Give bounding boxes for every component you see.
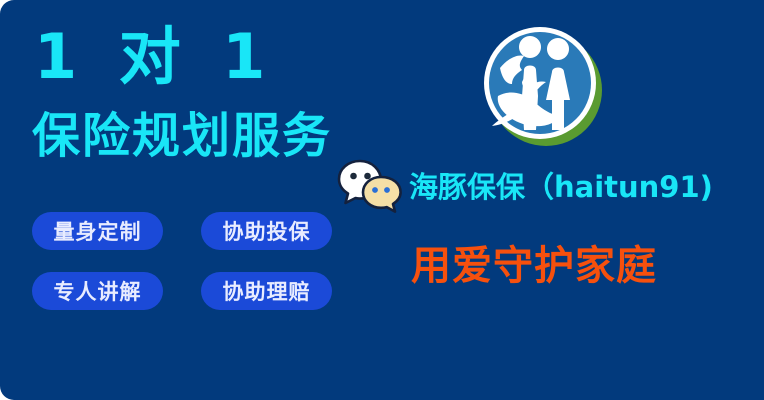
page-subtitle: 保险规划服务 (32, 112, 332, 160)
insurance-promo-poster: 1 对 1 保险规划服务 量身定制 协助投保 专人讲解 协助理赔 (0, 0, 764, 400)
page-title: 1 对 1 (34, 26, 275, 88)
wechat-handle-text: 海豚保保（haitun91) (409, 173, 713, 202)
feature-badge-grid: 量身定制 协助投保 专人讲解 协助理赔 (32, 212, 332, 310)
wechat-contact-row: 海豚保保（haitun91) (337, 158, 713, 216)
left-content-block: 1 对 1 保险规划服务 量身定制 协助投保 专人讲解 协助理赔 (0, 0, 380, 400)
brand-tagline: 用爱守护家庭 (411, 246, 657, 286)
feature-badge-assist-apply[interactable]: 协助投保 (201, 212, 332, 250)
wechat-icon (337, 158, 403, 216)
feature-badge-assist-claim[interactable]: 协助理赔 (201, 272, 332, 310)
feature-badge-expert-explain[interactable]: 专人讲解 (32, 272, 163, 310)
globe-dolphin-family-logo-icon (478, 22, 606, 150)
feature-badge-custom-plan[interactable]: 量身定制 (32, 212, 163, 250)
